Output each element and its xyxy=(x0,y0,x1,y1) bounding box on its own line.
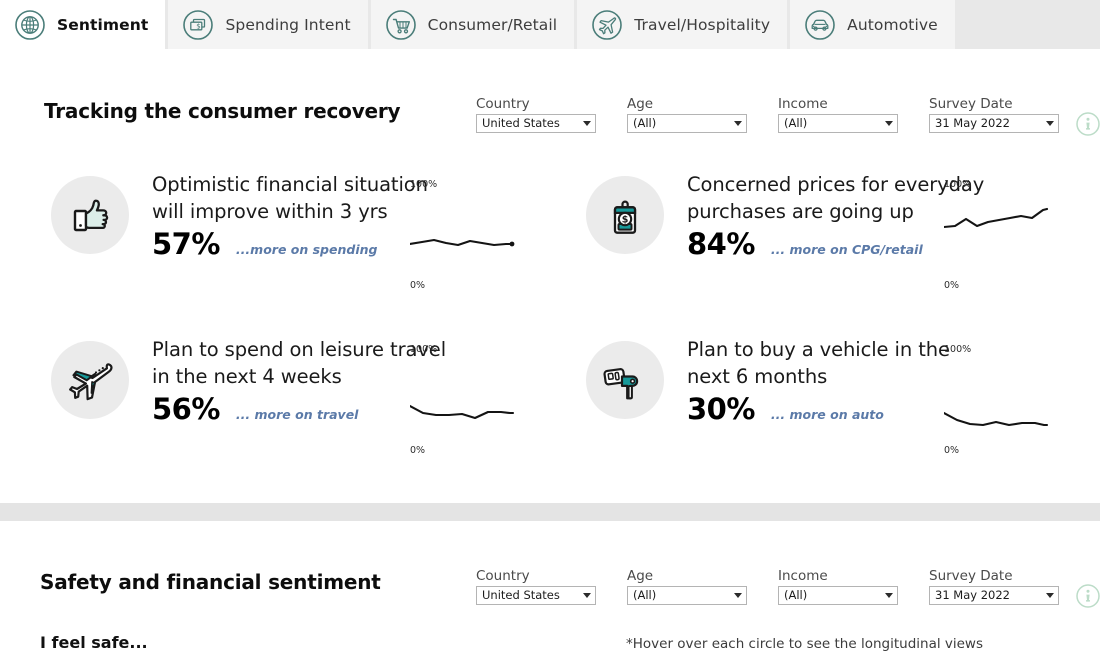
kpi-card-optimistic-financial: Optimistic financial situation will impr… xyxy=(51,176,452,261)
kpi-card-value-row: 56% ... more on travel xyxy=(152,392,452,426)
sparkline-optimistic-financial: 100% 0% xyxy=(410,179,530,291)
filter-age-value: (All) xyxy=(633,118,656,129)
info-icon[interactable] xyxy=(1075,583,1100,609)
tab-travel-hospitality[interactable]: Travel/Hospitality xyxy=(577,0,787,49)
filter-country-value: United States xyxy=(482,118,560,129)
filter-survey-date-value: 31 May 2022 xyxy=(935,590,1010,601)
chevron-down-icon xyxy=(885,593,893,598)
kpi-card-body: Optimistic financial situation will impr… xyxy=(152,172,452,261)
filter-age-value: (All) xyxy=(633,590,656,601)
tab-label: Travel/Hospitality xyxy=(634,16,770,34)
tab-automotive[interactable]: Automotive xyxy=(790,0,955,49)
svg-text:$: $ xyxy=(622,215,629,226)
svg-text:$: $ xyxy=(197,22,201,30)
sparkline-axis-top: 100% xyxy=(410,179,437,190)
section2-title: Safety and financial sentiment xyxy=(40,570,381,594)
tab-consumer-retail[interactable]: Consumer/Retail xyxy=(371,0,575,49)
sparkline-leisure-travel: 100% 0% xyxy=(410,344,530,456)
tab-label: Automotive xyxy=(847,16,938,34)
airplane-icon[interactable] xyxy=(51,341,129,419)
filter-country: Country United States xyxy=(476,97,596,133)
filter-survey-date-select[interactable]: 31 May 2022 xyxy=(929,586,1059,605)
kpi-card-body: Concerned prices for everyday purchases … xyxy=(687,172,987,261)
kpi-card-link[interactable]: ... more on CPG/retail xyxy=(771,242,923,257)
chevron-down-icon xyxy=(1046,121,1054,126)
filter-income-label: Income xyxy=(778,569,898,583)
filter-age: Age (All) xyxy=(627,97,747,133)
section-divider xyxy=(0,503,1100,521)
filter-income-label: Income xyxy=(778,97,898,111)
filter-age-select[interactable]: (All) xyxy=(627,114,747,133)
price-tag-icon[interactable]: $ xyxy=(586,176,664,254)
kpi-card-value-row: 84% ... more on CPG/retail xyxy=(687,227,987,261)
filter-income: Income (All) xyxy=(778,569,898,605)
chevron-down-icon xyxy=(1046,593,1054,598)
kpi-card-value: 30% xyxy=(687,392,755,426)
filter-country-label: Country xyxy=(476,569,596,583)
filter-income-value: (All) xyxy=(784,118,807,129)
info-icon[interactable] xyxy=(1075,111,1100,137)
filter-country-select[interactable]: United States xyxy=(476,586,596,605)
kpi-card-value: 56% xyxy=(152,392,220,426)
sparkline-chart[interactable] xyxy=(410,356,518,452)
car-icon xyxy=(804,9,836,41)
filter-income-select[interactable]: (All) xyxy=(778,114,898,133)
filter-country: Country United States xyxy=(476,569,596,605)
filter-survey-date-label: Survey Date xyxy=(929,569,1059,583)
filter-survey-date-value: 31 May 2022 xyxy=(935,118,1010,129)
kpi-card-value-row: 57% ...more on spending xyxy=(152,227,452,261)
hover-hint-note: *Hover over each circle to see the longi… xyxy=(626,636,983,652)
filter-income-select[interactable]: (All) xyxy=(778,586,898,605)
sparkline-chart[interactable] xyxy=(944,191,1052,287)
filter-age-label: Age xyxy=(627,569,747,583)
globe-icon xyxy=(14,9,46,41)
airplane-icon xyxy=(591,9,623,41)
tab-spending-intent[interactable]: $ Spending Intent xyxy=(168,0,367,49)
filter-survey-date-select[interactable]: 31 May 2022 xyxy=(929,114,1059,133)
tab-label: Consumer/Retail xyxy=(428,16,558,34)
chevron-down-icon xyxy=(734,121,742,126)
filter-age: Age (All) xyxy=(627,569,747,605)
section1-filter-bar: Country United States Age (All) Income (… xyxy=(476,97,1100,137)
section2-subhead: I feel safe... xyxy=(40,633,148,652)
filter-country-select[interactable]: United States xyxy=(476,114,596,133)
kpi-card-link[interactable]: ... more on travel xyxy=(236,407,359,422)
kpi-card-buy-vehicle: Plan to buy a vehicle in the next 6 mont… xyxy=(586,341,987,426)
kpi-card-text: Optimistic financial situation will impr… xyxy=(152,172,452,225)
kpi-card-link[interactable]: ...more on spending xyxy=(236,242,378,257)
sparkline-chart[interactable] xyxy=(944,356,1052,452)
filter-age-label: Age xyxy=(627,97,747,111)
kpi-card-link[interactable]: ... more on auto xyxy=(771,407,884,422)
car-key-icon[interactable] xyxy=(586,341,664,419)
section2-filter-bar: Country United States Age (All) Income (… xyxy=(476,569,1100,609)
filter-country-value: United States xyxy=(482,590,560,601)
kpi-card-value: 84% xyxy=(687,227,755,261)
chevron-down-icon xyxy=(583,593,591,598)
sparkline-axis-top: 100% xyxy=(410,344,437,355)
filter-survey-date: Survey Date 31 May 2022 xyxy=(929,97,1059,133)
kpi-card-body: Plan to spend on leisure travel in the n… xyxy=(152,337,452,426)
sparkline-buy-vehicle: 100% 0% xyxy=(944,344,1064,456)
thumbs-up-icon[interactable] xyxy=(51,176,129,254)
filter-income: Income (All) xyxy=(778,97,898,133)
sparkline-chart[interactable] xyxy=(410,191,518,287)
money-icon: $ xyxy=(182,9,214,41)
section-tracking-consumer-recovery: Tracking the consumer recovery Country U… xyxy=(0,49,1100,503)
chevron-down-icon xyxy=(734,593,742,598)
kpi-card-value-row: 30% ... more on auto xyxy=(687,392,987,426)
filter-survey-date: Survey Date 31 May 2022 xyxy=(929,569,1059,605)
filter-survey-date-label: Survey Date xyxy=(929,97,1059,111)
filter-country-label: Country xyxy=(476,97,596,111)
kpi-card-text: Plan to spend on leisure travel in the n… xyxy=(152,337,452,390)
tab-label: Sentiment xyxy=(57,16,148,34)
chevron-down-icon xyxy=(583,121,591,126)
kpi-card-value: 57% xyxy=(152,227,220,261)
kpi-card-body: Plan to buy a vehicle in the next 6 mont… xyxy=(687,337,987,426)
kpi-card-leisure-travel: Plan to spend on leisure travel in the n… xyxy=(51,341,452,426)
sparkline-concerned-prices: 100% 0% xyxy=(944,179,1064,291)
kpi-card-concerned-prices: $ Concerned prices for everyday purchase… xyxy=(586,176,987,261)
tab-bar-filler xyxy=(955,0,1100,49)
dashboard-page: Sentiment $ Spending Intent xyxy=(0,0,1100,665)
tab-label: Spending Intent xyxy=(225,16,350,34)
section1-title: Tracking the consumer recovery xyxy=(44,99,400,123)
section-safety-financial-sentiment: Safety and financial sentiment Country U… xyxy=(0,521,1100,665)
tab-bar: Sentiment $ Spending Intent xyxy=(0,0,1100,49)
filter-income-value: (All) xyxy=(784,590,807,601)
chevron-down-icon xyxy=(885,121,893,126)
sparkline-axis-top: 100% xyxy=(944,344,971,355)
kpi-card-text: Concerned prices for everyday purchases … xyxy=(687,172,987,225)
filter-age-select[interactable]: (All) xyxy=(627,586,747,605)
shopping-cart-icon xyxy=(385,9,417,41)
tab-sentiment[interactable]: Sentiment xyxy=(0,0,165,49)
sparkline-axis-top: 100% xyxy=(944,179,971,190)
kpi-card-text: Plan to buy a vehicle in the next 6 mont… xyxy=(687,337,987,390)
